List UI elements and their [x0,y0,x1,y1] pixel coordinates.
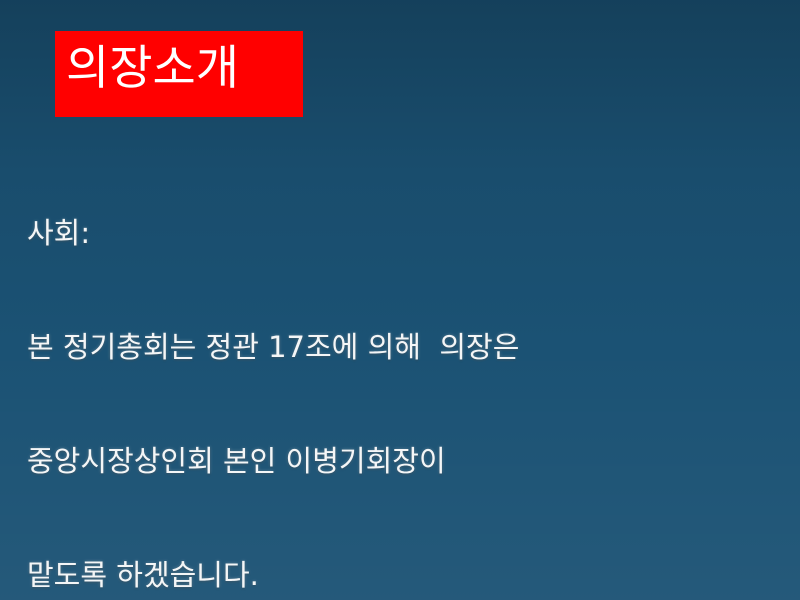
slide-title-banner: 의장소개 [55,31,303,117]
body-line: 맡도록 하겠습니다. [27,556,772,594]
body-line: 중앙시장상인회 본인 이병기회장이 [27,442,772,480]
slide-body-text: 사회: 본 정기총회는 정관 17조에 의해 의장은 중앙시장상인회 본인 이병… [27,138,772,600]
body-line: 사회: [27,214,772,252]
body-line: 본 정기총회는 정관 17조에 의해 의장은 [27,328,772,366]
presentation-slide: 의장소개 사회: 본 정기총회는 정관 17조에 의해 의장은 중앙시장상인회 … [0,0,800,600]
slide-title: 의장소개 [66,38,298,100]
